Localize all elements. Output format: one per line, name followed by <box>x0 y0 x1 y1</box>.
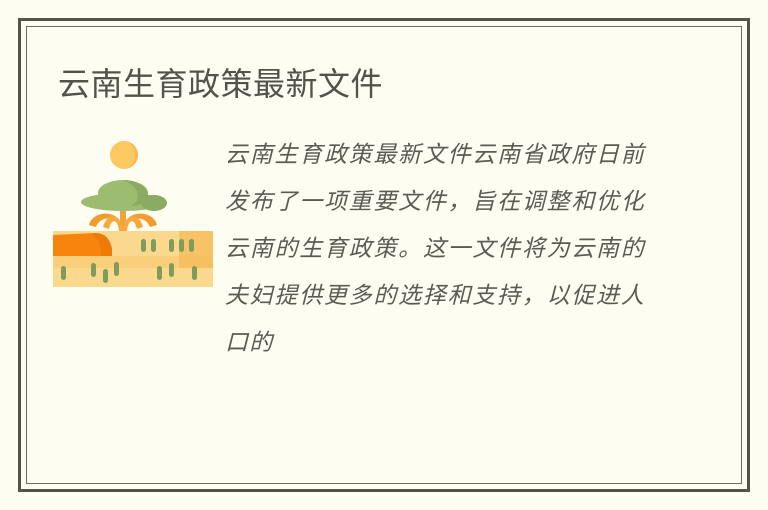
page-root: 云南生育政策最新文件 <box>0 0 768 510</box>
savanna-landscape-illustration <box>53 135 213 287</box>
sun-icon <box>110 141 138 169</box>
article-content: 云南生育政策最新文件云南省政府日前发布了一项重要文件，旨在调整和优化云南的生育政… <box>40 132 728 470</box>
terrain <box>53 231 213 287</box>
article-container: 云南生育政策最新文件 <box>40 40 728 470</box>
article-body-text: 云南生育政策最新文件云南省政府日前发布了一项重要文件，旨在调整和优化云南的生育政… <box>225 132 645 367</box>
page-title: 云南生育政策最新文件 <box>58 65 383 103</box>
